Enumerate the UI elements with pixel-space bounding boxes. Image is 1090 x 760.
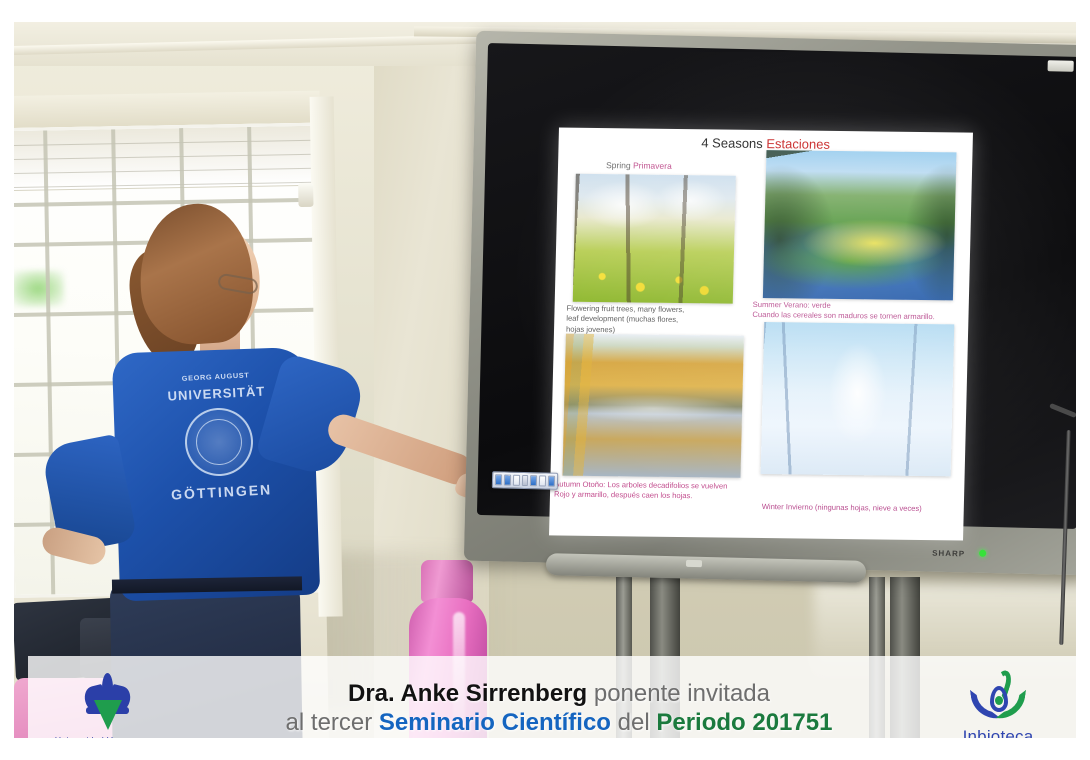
slide-caption-summer: Summer Verano: verde Cuando las cereales… xyxy=(752,300,969,323)
tshirt-seal-icon xyxy=(183,406,254,477)
event-photograph: GEORG AUGUST UNIVERSITÄT GÖTTINGEN SHARP xyxy=(14,22,1076,738)
screenshot-root: GEORG AUGUST UNIVERSITÄT GÖTTINGEN SHARP xyxy=(0,0,1090,760)
fleur-petal-center xyxy=(102,673,113,703)
slide-label-spring: Spring Primavera xyxy=(606,160,672,171)
caption-text: Dra. Anke Sirrenberg ponente invitada al… xyxy=(286,679,833,738)
tshirt-university-logo: GEORG AUGUST UNIVERSITÄT GÖTTINGEN xyxy=(149,371,290,514)
caption-connector: del xyxy=(611,709,656,736)
slide-image-winter xyxy=(761,322,955,476)
pen-icon[interactable] xyxy=(521,475,528,486)
window-blind xyxy=(14,126,314,191)
shape-icon[interactable] xyxy=(530,475,537,486)
inbioteca-mark-icon xyxy=(970,670,1026,724)
caption-period: Periodo 201751 xyxy=(656,709,832,736)
tshirt-text-line3: GÖTTINGEN xyxy=(154,480,289,503)
display-brand-logo: SHARP xyxy=(932,549,965,559)
arrow-left-icon[interactable] xyxy=(495,474,502,485)
slide-label-spring-en: Spring xyxy=(606,160,633,170)
caption-line-1: Dra. Anke Sirrenberg ponente invitada xyxy=(286,679,833,708)
caption-prefix: al tercer xyxy=(286,709,379,736)
eraser-icon[interactable] xyxy=(513,475,520,486)
slide-image-summer xyxy=(763,150,957,300)
universidad-veracruzana-logo: Universidad Veracruzana xyxy=(42,662,172,738)
close-icon[interactable] xyxy=(548,476,555,487)
slide-title-en: 4 Seasons xyxy=(701,135,766,151)
arrow-right-icon[interactable] xyxy=(504,474,511,485)
whiteboard-floating-toolbar[interactable] xyxy=(492,471,558,490)
caption-banner: Dra. Anke Sirrenberg ponente invitada al… xyxy=(28,656,1076,738)
caption-role: ponente invitada xyxy=(587,680,770,707)
slide-caption-spring: Flowering fruit trees, many flowers, lea… xyxy=(566,304,747,337)
inbioteca-caption: Inbioteca xyxy=(963,727,1034,739)
tshirt-text-line2: UNIVERSITÄT xyxy=(149,383,284,405)
display-sticker-label xyxy=(1048,60,1074,72)
presentation-slide[interactable]: 4 Seasons Estaciones Spring Primavera Fl… xyxy=(549,128,973,541)
presenter-hair xyxy=(135,200,256,347)
bottle-cap xyxy=(421,560,473,602)
letter-v-icon xyxy=(94,700,122,730)
slide-image-spring xyxy=(573,174,736,304)
pen-tray-notch xyxy=(686,560,702,567)
color-icon[interactable] xyxy=(539,475,546,486)
caption-line-2: al tercer Seminario Científico del Perio… xyxy=(286,708,833,737)
universidad-veracruzana-caption: Universidad Veracruzana xyxy=(55,735,159,738)
caption-event-name: Seminario Científico xyxy=(379,709,611,736)
slide-image-autumn xyxy=(562,334,743,478)
caption-speaker-name: Dra. Anke Sirrenberg xyxy=(348,680,587,707)
fleur-de-lis-icon xyxy=(79,673,135,731)
inbioteca-seed xyxy=(995,696,1003,705)
inbioteca-logo: Inbioteca xyxy=(938,658,1058,738)
slide-caption-winter: Winter Invierno (ningunas hojas, nieve a… xyxy=(762,502,968,515)
slide-label-spring-es: Primavera xyxy=(633,160,672,170)
slide-caption-autumn: Autumn Otoño: Los arboles decadifolios s… xyxy=(554,479,765,502)
